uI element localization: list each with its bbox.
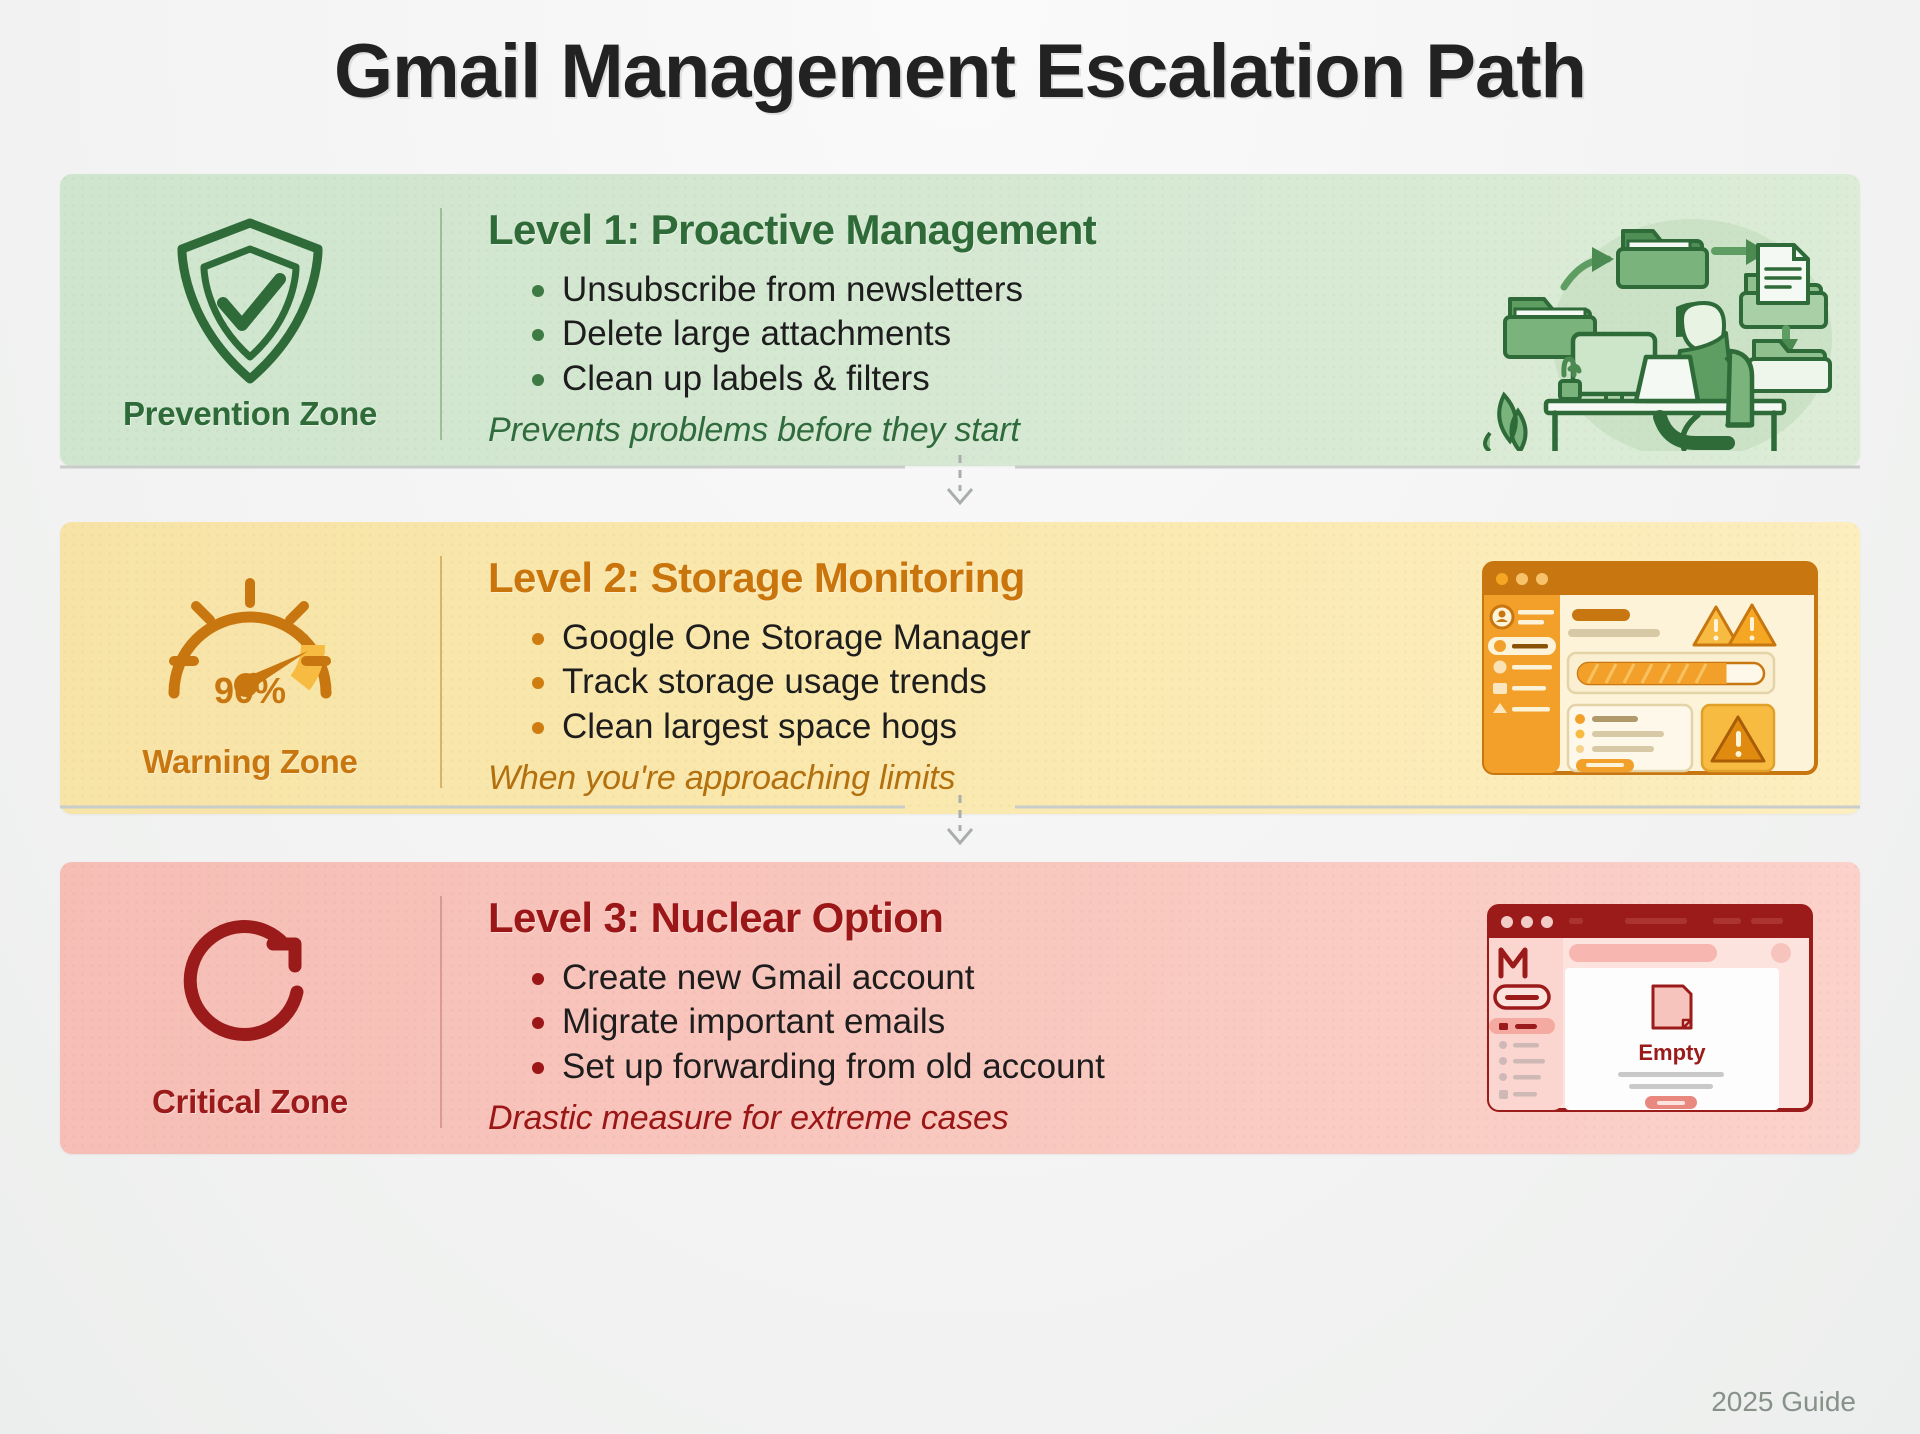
list-item: Migrate important emails xyxy=(528,1000,1440,1044)
list-item: Set up forwarding from old account xyxy=(528,1045,1440,1089)
list-item: Delete large attachments xyxy=(528,312,1460,356)
storage-dashboard-warning-illustration xyxy=(1440,522,1860,814)
connector-level2-to-level3 xyxy=(0,795,1920,855)
list-item: Clean largest space hogs xyxy=(528,705,1440,749)
connector-level1-to-level2 xyxy=(0,455,1920,515)
level-3-content: Level 3: Nuclear Option Create new Gmail… xyxy=(442,862,1440,1154)
person-organizing-folders-illustration xyxy=(1460,174,1860,466)
footer-note: 2025 Guide xyxy=(1711,1386,1856,1418)
page-title: Gmail Management Escalation Path xyxy=(0,28,1920,115)
level-3-band: Critical Zone Level 3: Nuclear Option Cr… xyxy=(60,862,1860,1154)
level-title: Level 1: Proactive Management xyxy=(488,206,1460,254)
level-2-band: 90% Warning Zone Level 2: Storage Monito… xyxy=(60,522,1860,814)
list-item: Unsubscribe from newsletters xyxy=(528,268,1460,312)
list-item: Google One Storage Manager xyxy=(528,616,1440,660)
list-item: Track storage usage trends xyxy=(528,660,1440,704)
shield-check-icon xyxy=(170,214,330,389)
zone-label: Warning Zone xyxy=(142,743,357,781)
empty-state-label: Empty xyxy=(1638,1040,1706,1065)
infographic-canvas: Gmail Management Escalation Path Prevent… xyxy=(0,0,1920,1434)
circular-reset-arrow-icon xyxy=(165,902,335,1077)
level-tagline: Drastic measure for extreme cases xyxy=(488,1099,1440,1138)
list-item: Clean up labels & filters xyxy=(528,357,1460,401)
zone-label: Prevention Zone xyxy=(123,395,377,433)
level-title: Level 3: Nuclear Option xyxy=(488,894,1440,942)
prevention-zone: Prevention Zone xyxy=(60,174,440,466)
level-tagline: When you're approaching limits xyxy=(488,759,1440,798)
level-1-band: Prevention Zone Level 1: Proactive Manag… xyxy=(60,174,1860,466)
list-item: Create new Gmail account xyxy=(528,956,1440,1000)
level-3-bullet-list: Create new Gmail account Migrate importa… xyxy=(488,956,1440,1089)
level-tagline: Prevents problems before they start xyxy=(488,411,1460,450)
gauge-value: 90% xyxy=(214,670,286,712)
level-2-content: Level 2: Storage Monitoring Google One S… xyxy=(442,522,1440,814)
warning-zone: 90% Warning Zone xyxy=(60,522,440,814)
level-1-bullet-list: Unsubscribe from newsletters Delete larg… xyxy=(488,268,1460,401)
level-1-content: Level 1: Proactive Management Unsubscrib… xyxy=(442,174,1460,466)
gauge-icon: 90% xyxy=(150,562,350,737)
empty-gmail-inbox-illustration: Empty xyxy=(1440,862,1860,1154)
zone-label: Critical Zone xyxy=(152,1083,348,1121)
critical-zone: Critical Zone xyxy=(60,862,440,1154)
level-title: Level 2: Storage Monitoring xyxy=(488,554,1440,602)
level-2-bullet-list: Google One Storage Manager Track storage… xyxy=(488,616,1440,749)
